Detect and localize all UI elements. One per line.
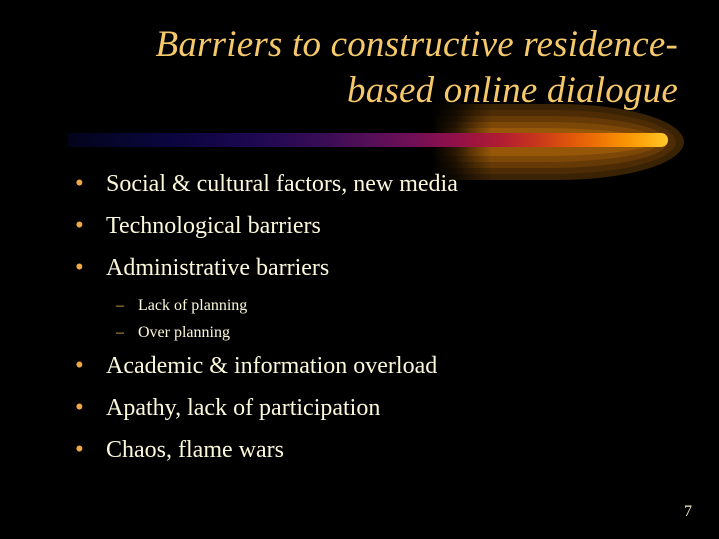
title-line-1: Barriers to constructive residence- — [60, 22, 678, 68]
list-item: • Apathy, lack of participation — [68, 392, 668, 425]
sub-list-item-label: Lack of planning — [138, 294, 668, 317]
sub-list-item: – Over planning — [68, 321, 668, 344]
list-item-label: Social & cultural factors, new media — [106, 168, 668, 201]
list-item: • Chaos, flame wars — [68, 434, 668, 467]
sub-list-item: – Lack of planning — [68, 294, 668, 317]
list-item-label: Technological barriers — [106, 210, 668, 243]
list-item: • Academic & information overload — [68, 350, 668, 383]
presentation-slide: Barriers to constructive residence- base… — [0, 0, 719, 539]
list-item-label: Academic & information overload — [106, 350, 668, 383]
bullet-dot-icon: • — [68, 437, 106, 462]
bullet-list: • Social & cultural factors, new media •… — [68, 168, 668, 476]
bullet-dot-icon: • — [68, 353, 106, 378]
slide-number: 7 — [684, 503, 692, 521]
bullet-dash-icon: – — [116, 325, 138, 341]
bullet-dash-icon: – — [116, 298, 138, 314]
bullet-dot-icon: • — [68, 171, 106, 196]
page-title: Barriers to constructive residence- base… — [60, 22, 678, 114]
list-item: • Social & cultural factors, new media — [68, 168, 668, 201]
bullet-dot-icon: • — [68, 213, 106, 238]
gradient-rule-bar — [68, 133, 668, 147]
bullet-dot-icon: • — [68, 255, 106, 280]
list-item: • Administrative barriers — [68, 252, 668, 285]
bullet-dot-icon: • — [68, 395, 106, 420]
sub-list-item-label: Over planning — [138, 321, 668, 344]
list-item-label: Chaos, flame wars — [106, 434, 668, 467]
list-item-label: Administrative barriers — [106, 252, 668, 285]
list-item-label: Apathy, lack of participation — [106, 392, 668, 425]
title-line-2: based online dialogue — [60, 68, 678, 114]
list-item: • Technological barriers — [68, 210, 668, 243]
